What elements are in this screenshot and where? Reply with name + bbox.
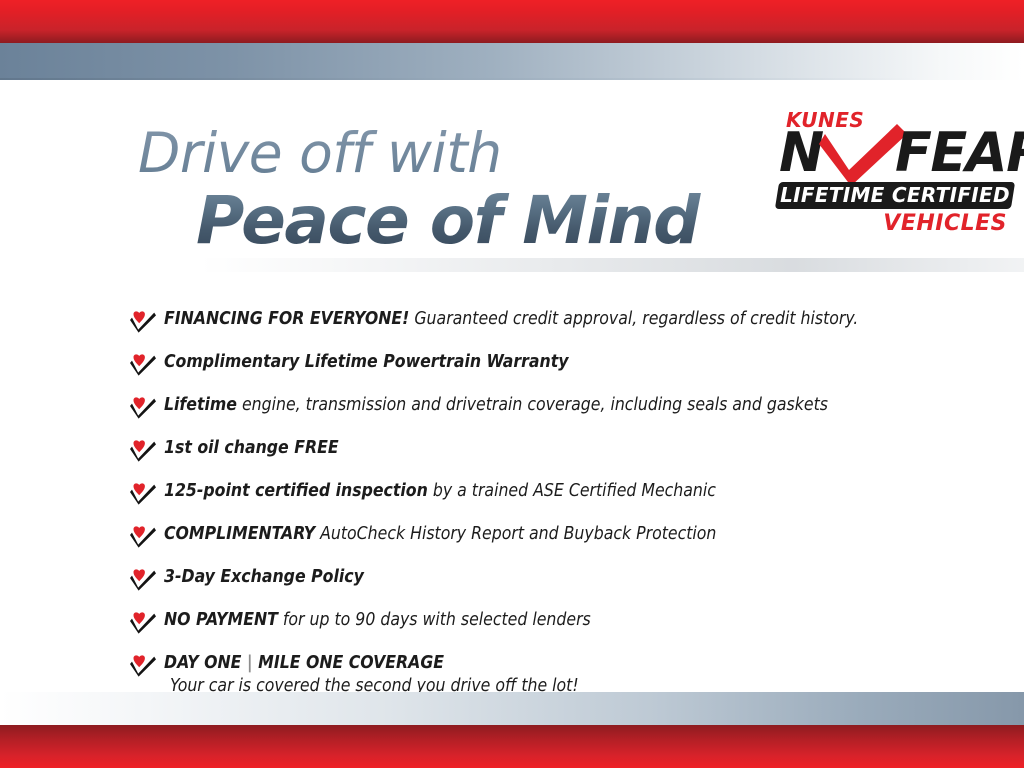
- bottom-red-band: [0, 725, 1024, 768]
- logo-lifetime-certified-text: LIFETIME CERTIFIED: [777, 182, 1013, 209]
- logo-word-vehicles: VEHICLES: [883, 211, 1007, 236]
- feature-lead: 1st oil change FREE: [164, 438, 339, 458]
- heart-check-icon: [130, 354, 156, 376]
- feature-list: FINANCING FOR EVERYONE! Guaranteed credi…: [130, 308, 930, 698]
- feature-lead: DAY ONE: [164, 653, 241, 673]
- feature-text: 1st oil change FREE: [164, 437, 930, 459]
- logo-nofear-wordmark: N FEAR: [779, 126, 1015, 182]
- heart-check-icon: [130, 440, 156, 462]
- bottom-slate-band: [0, 692, 1024, 725]
- feature-lead: FINANCING FOR EVERYONE!: [164, 309, 409, 329]
- headline-line-1: Drive off with: [138, 124, 758, 182]
- feature-detail: by a trained ASE Certified Mechanic: [428, 481, 716, 501]
- feature-detail: engine, transmission and drivetrain cove…: [237, 395, 828, 415]
- feature-text: 125-point certified inspection by a trai…: [164, 480, 930, 502]
- heart-check-icon: [130, 483, 156, 505]
- feature-item: 1st oil change FREE: [130, 437, 930, 469]
- feature-text: 3-Day Exchange Policy: [164, 566, 930, 588]
- logo-letter-n: N: [779, 126, 822, 180]
- feature-detail: AutoCheck History Report and Buyback Pro…: [315, 524, 716, 544]
- feature-item: 3-Day Exchange Policy: [130, 566, 930, 598]
- headline-block: Drive off with Peace of Mind: [138, 124, 758, 256]
- feature-detail: for up to 90 days with selected lenders: [278, 610, 591, 630]
- headline-line-2: Peace of Mind: [196, 186, 758, 256]
- feature-item: FINANCING FOR EVERYONE! Guaranteed credi…: [130, 308, 930, 340]
- feature-item: NO PAYMENT for up to 90 days with select…: [130, 609, 930, 641]
- feature-text: Lifetime engine, transmission and drivet…: [164, 394, 930, 416]
- feature-detail: Guaranteed credit approval, regardless o…: [409, 309, 858, 329]
- heart-check-icon: [130, 612, 156, 634]
- feature-text: COMPLIMENTARY AutoCheck History Report a…: [164, 523, 930, 545]
- feature-item: Complimentary Lifetime Powertrain Warran…: [130, 351, 930, 383]
- feature-text: Complimentary Lifetime Powertrain Warran…: [164, 351, 930, 373]
- headline-divider: [200, 258, 1024, 272]
- feature-lead: Complimentary Lifetime Powertrain Warran…: [164, 352, 569, 372]
- feature-lead-2: MILE ONE COVERAGE: [258, 653, 444, 673]
- heart-check-icon: [819, 124, 907, 186]
- logo-lifetime-certified-bar: LIFETIME CERTIFIED: [775, 182, 1015, 209]
- heart-check-icon: [130, 569, 156, 591]
- feature-separator: |: [241, 653, 258, 673]
- feature-text: NO PAYMENT for up to 90 days with select…: [164, 609, 930, 631]
- feature-text: DAY ONE | MILE ONE COVERAGE: [164, 652, 930, 674]
- feature-item: COMPLIMENTARY AutoCheck History Report a…: [130, 523, 930, 555]
- promo-poster: Drive off with Peace of Mind KUNES N FEA…: [0, 0, 1024, 768]
- heart-check-icon: [130, 526, 156, 548]
- feature-item: Lifetime engine, transmission and drivet…: [130, 394, 930, 426]
- heart-check-icon: [130, 397, 156, 419]
- feature-text: FINANCING FOR EVERYONE! Guaranteed credi…: [164, 308, 930, 330]
- kunes-no-fear-logo: KUNES N FEAR LIFETIME CERTIFIED VEHICLES: [775, 108, 1015, 248]
- logo-word-fear: FEAR: [895, 126, 1024, 180]
- feature-lead: COMPLIMENTARY: [164, 524, 315, 544]
- top-slate-band: [0, 43, 1024, 80]
- feature-lead: 125-point certified inspection: [164, 481, 428, 501]
- top-red-band: [0, 0, 1024, 43]
- heart-check-icon: [130, 655, 156, 677]
- feature-lead: 3-Day Exchange Policy: [164, 567, 364, 587]
- feature-lead: Lifetime: [164, 395, 237, 415]
- feature-item: 125-point certified inspection by a trai…: [130, 480, 930, 512]
- heart-check-icon: [130, 311, 156, 333]
- feature-lead: NO PAYMENT: [164, 610, 278, 630]
